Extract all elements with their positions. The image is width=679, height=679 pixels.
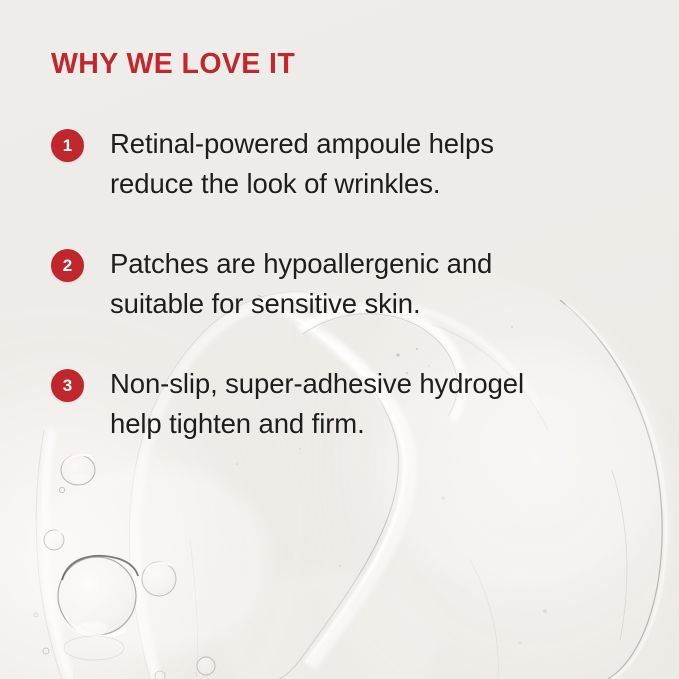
- benefit-item-2: 2 Patches are hypoallergenic and suitabl…: [51, 244, 651, 324]
- benefit-text-1-line-2: reduce the look of wrinkles.: [110, 164, 494, 204]
- page-title: WHY WE LOVE IT: [51, 48, 295, 81]
- benefit-item-3: 3 Non-slip, super-adhesive hydrogel help…: [51, 364, 651, 444]
- benefit-number-badge-3: 3: [51, 369, 84, 402]
- benefit-number-badge-2: 2: [51, 249, 84, 282]
- benefit-number-badge-1: 1: [51, 129, 84, 162]
- benefit-text-2-line-1: Patches are hypoallergenic and: [110, 244, 492, 284]
- benefit-item-1: 1 Retinal-powered ampoule helps reduce t…: [51, 124, 651, 204]
- benefit-text-3-line-2: help tighten and firm.: [110, 404, 524, 444]
- benefit-text-2: Patches are hypoallergenic and suitable …: [110, 244, 492, 324]
- benefit-text-1: Retinal-powered ampoule helps reduce the…: [110, 124, 494, 204]
- benefit-text-1-line-1: Retinal-powered ampoule helps: [110, 124, 494, 164]
- benefit-text-3: Non-slip, super-adhesive hydrogel help t…: [110, 364, 524, 444]
- benefit-text-3-line-1: Non-slip, super-adhesive hydrogel: [110, 364, 524, 404]
- benefit-text-2-line-2: suitable for sensitive skin.: [110, 284, 492, 324]
- product-benefits-card: WHY WE LOVE IT 1 Retinal-powered ampoule…: [0, 0, 679, 679]
